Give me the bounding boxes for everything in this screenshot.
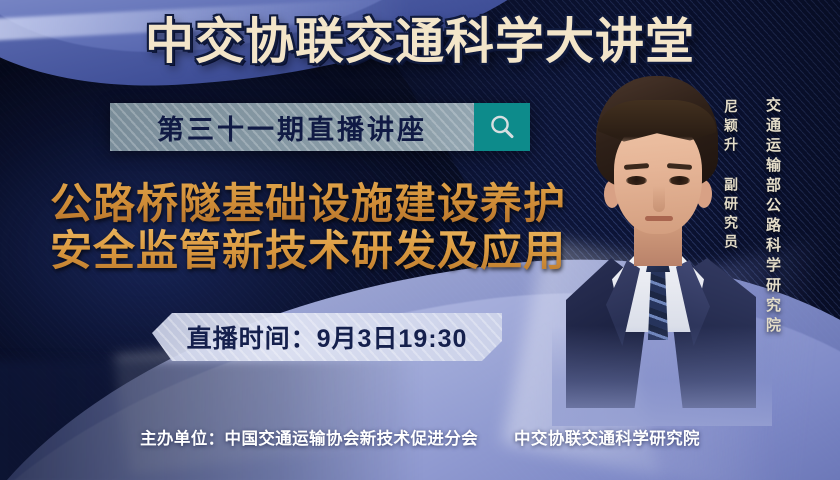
lecture-title-line1: 公路桥隧基础设施建设养护: [28, 180, 588, 227]
speaker-name-title: 尼颖升 副研究员: [721, 99, 741, 253]
speaker-organization: 交通运输部公路科学研究院: [762, 97, 783, 337]
episode-bar: 第三十一期直播讲座: [110, 103, 530, 151]
silk-shadow-left: [0, 360, 420, 480]
search-icon: [488, 113, 516, 141]
portrait-eye-right: [669, 176, 690, 185]
episode-label-container: 第三十一期直播讲座: [110, 103, 474, 151]
portrait-bottom-fade: [552, 326, 772, 426]
portrait-nose: [653, 186, 665, 212]
lecture-title: 公路桥隧基础设施建设养护 安全监管新技术研发及应用: [28, 180, 588, 274]
footer-organizer: 主办单位：中国交通运输协会新技术促进分会: [140, 430, 478, 448]
broadcast-time-badge: 直播时间：9月3日19:30: [152, 313, 502, 361]
footer: 主办单位：中国交通运输协会新技术促进分会 中交协联交通科学研究院: [0, 425, 840, 449]
speaker-portrait: [572, 76, 744, 406]
portrait-mouth: [645, 216, 673, 221]
page-title: 中交协联交通科学大讲堂: [0, 18, 840, 67]
footer-institute: 中交协联交通科学研究院: [514, 430, 700, 448]
portrait-eye-left: [626, 176, 647, 185]
live-stream-poster: 中交协联交通科学大讲堂 第三十一期直播讲座 公路桥隧基础设施建设养护 安全监管新…: [0, 0, 840, 480]
episode-label: 第三十一期直播讲座: [157, 108, 427, 147]
broadcast-time-text: 直播时间：9月3日19:30: [187, 319, 468, 355]
lecture-title-line2: 安全监管新技术研发及应用: [28, 227, 588, 274]
search-button[interactable]: [474, 103, 530, 151]
